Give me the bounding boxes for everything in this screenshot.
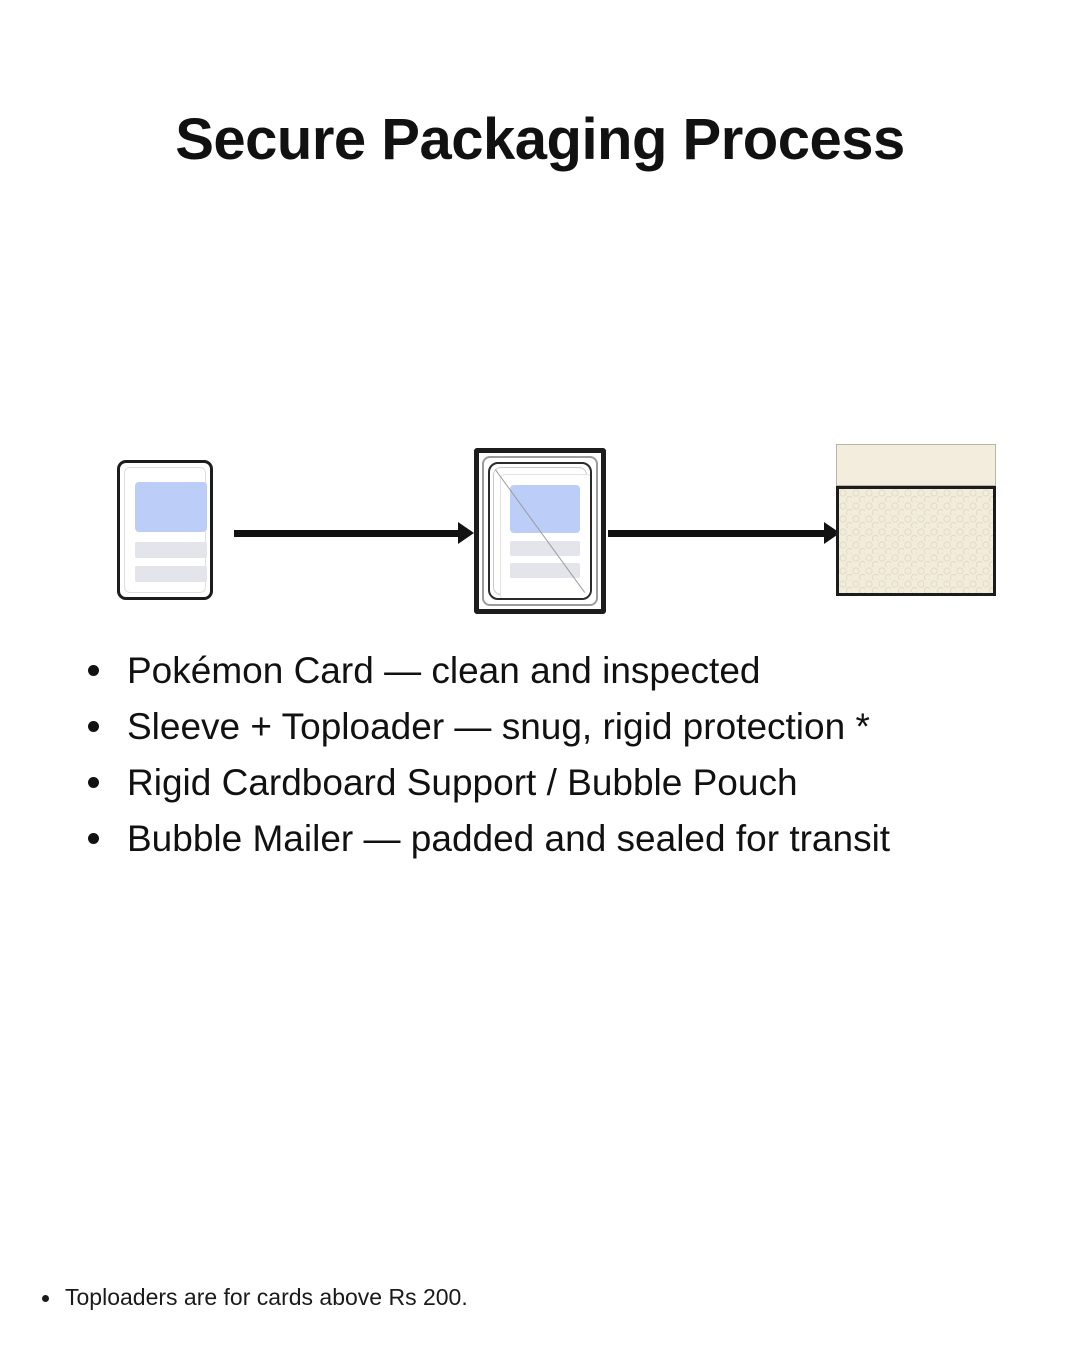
card-sleeve	[488, 462, 592, 600]
footnote: Toploaders are for cards above Rs 200.	[42, 1282, 468, 1312]
card-artwork-panel	[510, 485, 580, 533]
list-item-label: Sleeve + Toploader — snug, rigid protect…	[127, 704, 870, 750]
card-text-bar-2	[135, 566, 207, 582]
diagram-stage-sleeve-toploader	[474, 448, 606, 614]
list-item-label: Bubble Mailer — padded and sealed for tr…	[127, 816, 890, 862]
list-item: Pokémon Card — clean and inspected	[88, 648, 1048, 704]
diagram-stage-card	[117, 460, 213, 600]
arrow-shaft	[608, 530, 828, 537]
card-artwork-panel	[135, 482, 207, 532]
mailer-body	[836, 486, 996, 596]
list-item: Sleeve + Toploader — snug, rigid protect…	[88, 704, 1048, 760]
card-text-bar-1	[510, 541, 580, 556]
footnote-label: Toploaders are for cards above Rs 200.	[65, 1282, 468, 1312]
card-inner-border	[124, 467, 206, 593]
bubble-wrap-texture-icon	[839, 489, 993, 593]
bullet-dot-icon	[88, 721, 99, 732]
list-item-label: Rigid Cardboard Support / Bubble Pouch	[127, 760, 798, 806]
list-item: Rigid Cardboard Support / Bubble Pouch	[88, 760, 1048, 816]
list-item-label: Pokémon Card — clean and inspected	[127, 648, 760, 694]
bullet-dot-icon	[88, 777, 99, 788]
arrow-head-icon	[458, 522, 474, 544]
list-item: Bubble Mailer — padded and sealed for tr…	[88, 816, 1048, 872]
arrow-shaft	[234, 530, 462, 537]
page-title: Secure Packaging Process	[0, 108, 1080, 172]
mailer-flap	[836, 444, 996, 486]
bullet-dot-icon	[88, 665, 99, 676]
packaging-steps-list: Pokémon Card — clean and inspected Sleev…	[88, 648, 1048, 872]
card-text-bar-2	[510, 563, 580, 578]
bullet-dot-icon	[42, 1295, 49, 1302]
card-text-bar-1	[135, 542, 207, 558]
sleeved-card	[500, 474, 592, 600]
bullet-dot-icon	[88, 833, 99, 844]
